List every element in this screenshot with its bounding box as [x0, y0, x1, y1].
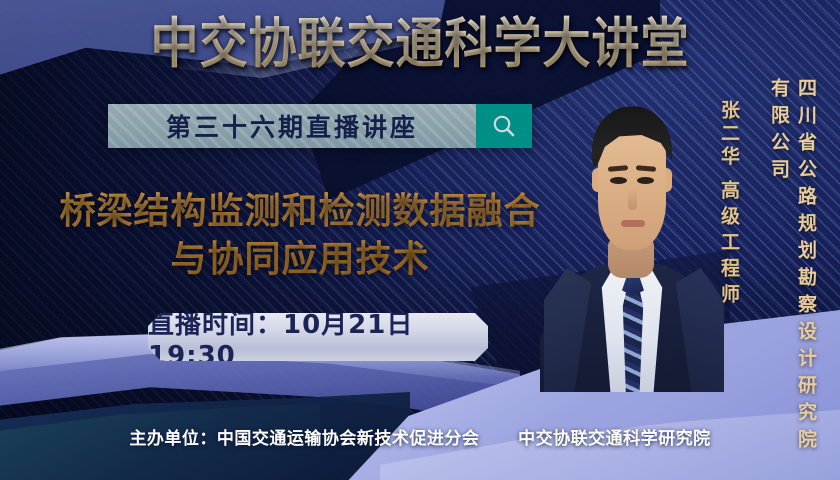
lecture-title-line2: 与协同应用技术: [40, 236, 560, 284]
speaker-organization: 四川省公路规划勘察设计研究院有限公司: [766, 78, 820, 480]
portrait-eye-right: [637, 177, 654, 184]
session-bar-label-area: 第三十六期直播讲座: [108, 104, 476, 148]
lecture-title-line1: 桥梁结构监测和检测数据融合: [59, 191, 540, 232]
lecture-title: 桥梁结构监测和检测数据融合 与协同应用技术: [40, 188, 560, 283]
broadcast-time-plate: 直播时间：10月21日19:30: [148, 313, 488, 361]
speaker-portrait: [536, 62, 724, 392]
search-button[interactable]: [476, 104, 532, 148]
portrait-mouth: [621, 220, 645, 227]
main-title: 中交协联交通科学大讲堂: [0, 15, 840, 74]
speaker-rank: 高级工程师: [716, 180, 743, 310]
broadcast-time-text: 直播时间：10月21日19:30: [148, 304, 488, 371]
portrait-eye-left: [610, 177, 627, 184]
organizer-footer: 主办单位：中国交通运输协会新技术促进分会 中交协联交通科学研究院: [0, 424, 840, 449]
search-icon: [491, 113, 517, 139]
session-bar: 第三十六期直播讲座: [108, 104, 532, 148]
webinar-poster: 中交协联交通科学大讲堂 中交协联交通科学大讲堂 第三十六期直播讲座 桥梁结构监测…: [0, 0, 840, 480]
speaker-name: 张二华: [716, 100, 743, 169]
session-bar-label: 第三十六期直播讲座: [166, 108, 418, 144]
organizer-primary: 主办单位：中国交通运输协会新技术促进分会: [129, 429, 479, 449]
portrait-nose: [628, 188, 637, 210]
organizer-secondary: 中交协联交通科学研究院: [518, 429, 711, 449]
